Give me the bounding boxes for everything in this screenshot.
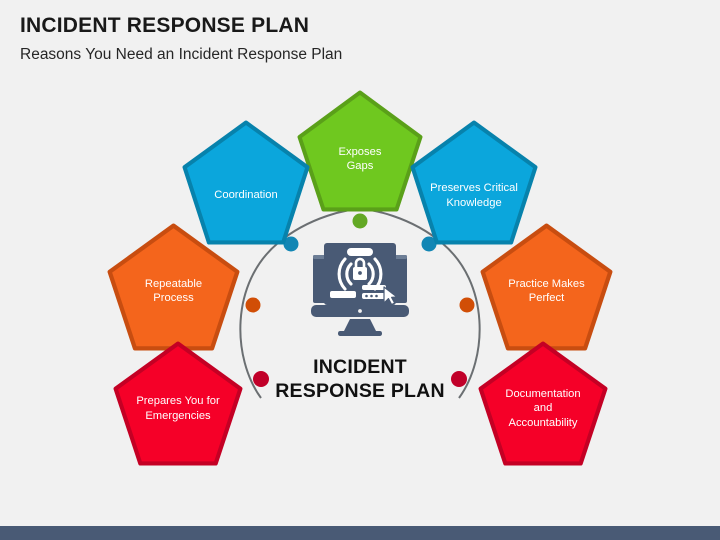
pentagon-documentation-and-accountability[interactable]: DocumentationandAccountability bbox=[478, 341, 608, 466]
pentagon-repeatable-process[interactable]: RepeatableProcess bbox=[107, 223, 240, 351]
page-subtitle: Reasons You Need an Incident Response Pl… bbox=[20, 46, 700, 65]
arc-dot-exposes-gaps bbox=[353, 214, 368, 229]
pentagon-shape bbox=[480, 223, 613, 351]
center-caption-line2: RESPONSE PLAN bbox=[250, 380, 470, 404]
pentagon-shape bbox=[297, 90, 423, 212]
page-title: INCIDENT RESPONSE PLAN bbox=[20, 14, 700, 38]
arc-dot-practice bbox=[460, 298, 475, 313]
center-caption-line1: INCIDENT bbox=[250, 356, 470, 380]
pentagon-diagram: ExposesGaps Coordination Preserves Criti… bbox=[0, 78, 720, 473]
arc-dot-repeatable bbox=[246, 298, 261, 313]
center-caption: INCIDENT RESPONSE PLAN bbox=[250, 356, 470, 404]
pentagon-prepares-you-for-emergencies[interactable]: Prepares You forEmergencies bbox=[113, 341, 243, 466]
pentagon-exposes-gaps[interactable]: ExposesGaps bbox=[297, 90, 423, 212]
slide-canvas: INCIDENT RESPONSE PLAN Reasons You Need … bbox=[0, 0, 720, 540]
slide-bottom-bar bbox=[0, 526, 720, 540]
slide-header: INCIDENT RESPONSE PLAN Reasons You Need … bbox=[20, 14, 700, 65]
pentagon-practice-makes-perfect[interactable]: Practice MakesPerfect bbox=[480, 223, 613, 351]
pentagon-shape bbox=[107, 223, 240, 351]
pentagon-shape bbox=[113, 341, 243, 466]
monitor-lock-wifi-icon bbox=[305, 233, 415, 343]
pentagon-shape bbox=[478, 341, 608, 466]
